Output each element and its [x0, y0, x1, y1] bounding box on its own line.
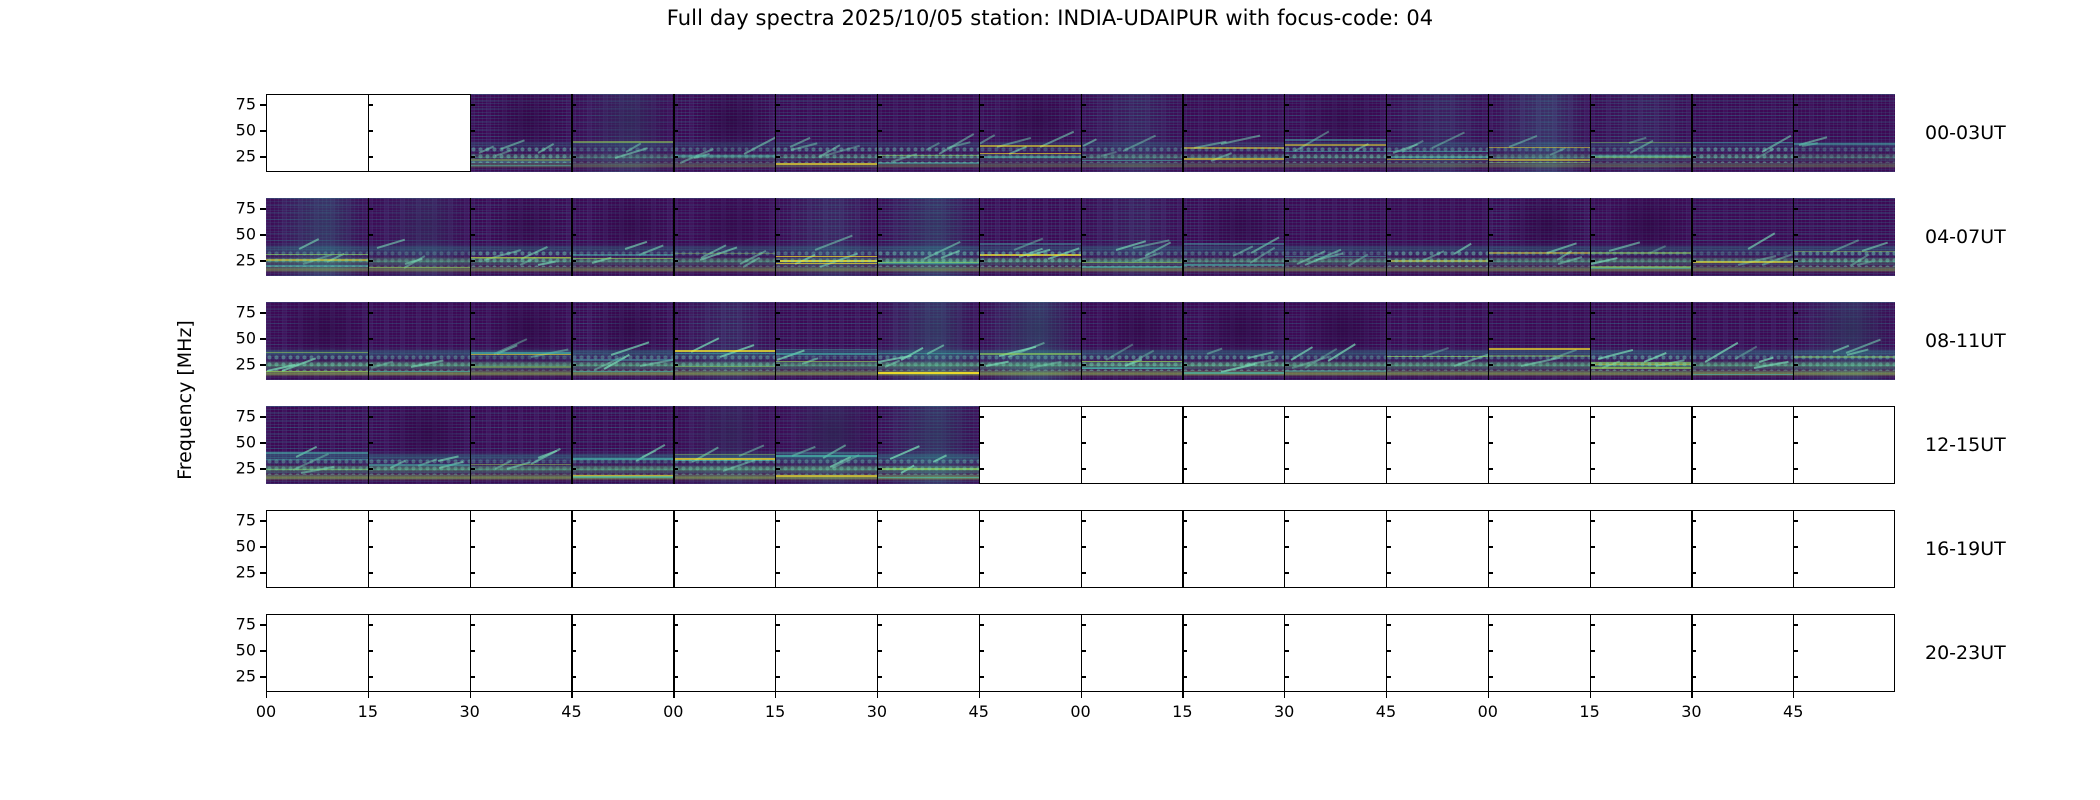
- y-tick-mark: [260, 338, 266, 339]
- spectrogram-texture: [571, 94, 673, 172]
- ionogram-horizontal-band: [1081, 368, 1183, 370]
- y-tick-stub: [1691, 104, 1696, 105]
- spectrogram-panel: [1386, 614, 1488, 692]
- y-tick-stub: [1386, 312, 1391, 313]
- ionogram-horizontal-band: [979, 156, 1081, 158]
- ionogram-horizontal-band: [775, 349, 877, 351]
- spectrogram-texture: [673, 198, 775, 276]
- y-tick-stub: [1488, 260, 1493, 261]
- ionogram-horizontal-band: [1488, 355, 1590, 357]
- spectrogram-texture: [571, 198, 673, 276]
- y-tick-stub: [1691, 650, 1696, 651]
- y-tick-stub: [1284, 234, 1289, 235]
- y-tick-stub: [1793, 520, 1798, 521]
- spectrogram-panel: [571, 510, 673, 588]
- y-tick-stub: [979, 130, 984, 131]
- ionogram-sweep-trace: [1432, 131, 1465, 148]
- peak-dash-strip: [1182, 165, 1284, 172]
- spectrogram-texture: [877, 406, 979, 484]
- y-tick-stub: [1691, 234, 1696, 235]
- spectrogram-echo-bands: [1488, 198, 1590, 276]
- spectrogram-panel: [470, 510, 572, 588]
- figure-title: Full day spectra 2025/10/05 station: IND…: [0, 6, 2100, 30]
- y-tick-stub: [1793, 234, 1798, 235]
- y-tick-stub: [1386, 650, 1391, 651]
- spectrogram-echo-bands: [877, 302, 979, 380]
- y-tick-stub: [979, 624, 984, 625]
- ionogram-horizontal-band: [368, 267, 470, 269]
- spectrogram-panel: [877, 198, 979, 276]
- ionogram-horizontal-band: [1590, 364, 1692, 366]
- ionogram-horizontal-band: [1284, 144, 1386, 146]
- y-tick-stub: [1691, 676, 1696, 677]
- spectrogram-texture: [571, 94, 673, 172]
- ionogram-horizontal-band: [266, 259, 368, 261]
- spectrogram-texture: [266, 406, 368, 484]
- spectrogram-quiet-region: [571, 302, 673, 380]
- spectrogram-texture: [775, 302, 877, 380]
- y-tick-stub: [1182, 624, 1187, 625]
- y-tick-stub: [1386, 260, 1391, 261]
- ionogram-horizontal-band: [1182, 264, 1284, 266]
- y-tick-stub: [1793, 104, 1798, 105]
- y-tick-stub: [673, 208, 678, 209]
- spectrogram-echo-bands: [470, 406, 572, 484]
- y-tick-stub: [1691, 624, 1696, 625]
- spectrogram-texture: [1691, 302, 1793, 380]
- spectrogram-texture: [673, 302, 775, 380]
- x-tick-label: 30: [1274, 702, 1294, 721]
- spectrogram-texture: [1590, 198, 1692, 276]
- y-tick-stub: [673, 546, 678, 547]
- y-tick-stub: [1488, 104, 1493, 105]
- y-tick-stub: [470, 156, 475, 157]
- ionogram-horizontal-band: [979, 153, 1081, 155]
- spectrogram-panel: [673, 614, 775, 692]
- spectrogram-texture: [1386, 198, 1488, 276]
- y-tick-stub: [1386, 234, 1391, 235]
- spectrogram-panel: [1793, 406, 1895, 484]
- y-tick-stub: [1081, 416, 1086, 417]
- y-tick-stub: [1488, 312, 1493, 313]
- spectrogram-texture: [1081, 198, 1183, 276]
- x-tick-label: 15: [1172, 702, 1192, 721]
- y-tick-stub: [775, 364, 780, 365]
- spectrogram-texture: [877, 406, 979, 484]
- y-tick-label: 25: [236, 355, 256, 374]
- y-tick-stub: [1590, 364, 1595, 365]
- x-tick-mark: [673, 692, 674, 698]
- y-tick-label: 75: [236, 407, 256, 426]
- peak-dash-strip: [368, 477, 470, 484]
- y-tick-label: 25: [236, 563, 256, 582]
- spectrogram-texture: [1488, 302, 1590, 380]
- y-tick-stub: [1284, 104, 1289, 105]
- ionogram-horizontal-band: [1081, 262, 1183, 264]
- ionogram-sweep-trace: [1454, 352, 1488, 366]
- spectrogram-texture: [979, 94, 1081, 172]
- spectrogram-texture: [1793, 94, 1895, 172]
- spectrogram-texture: [979, 94, 1081, 172]
- y-tick-stub: [673, 364, 678, 365]
- spectrogram-panel: [673, 94, 775, 172]
- ionogram-sweep-trace: [1761, 135, 1790, 152]
- spectrogram-texture: [368, 302, 470, 380]
- spectrogram-panel: [673, 406, 775, 484]
- spectrogram-panel: [877, 406, 979, 484]
- spectrogram-panel: [1793, 614, 1895, 692]
- y-tick-stub: [1182, 676, 1187, 677]
- y-tick-stub: [571, 442, 576, 443]
- spectrogram-panel: [1182, 510, 1284, 588]
- y-tick-stub: [775, 572, 780, 573]
- y-tick-stub: [1488, 234, 1493, 235]
- y-tick-stub: [1590, 104, 1595, 105]
- spectrogram-panel: [470, 198, 572, 276]
- spectrogram-panel: [1081, 198, 1183, 276]
- peak-dash-strip: [1386, 269, 1488, 276]
- y-tick-stub: [571, 572, 576, 573]
- peak-dash-strip: [368, 373, 470, 380]
- peak-dash-strip: [1590, 269, 1692, 276]
- y-tick-stub: [368, 546, 373, 547]
- y-tick-stub: [1284, 676, 1289, 677]
- y-tick-stub: [775, 676, 780, 677]
- spectrogram-texture: [673, 198, 775, 276]
- y-tick-stub: [1182, 260, 1187, 261]
- y-tick-stub: [1691, 260, 1696, 261]
- ionogram-sweep-trace: [1106, 343, 1134, 360]
- y-tick-stub: [368, 520, 373, 521]
- ionogram-sweep-trace: [641, 450, 655, 458]
- y-tick-stub: [571, 624, 576, 625]
- spectrogram-panel: [266, 94, 368, 172]
- y-tick-stub: [1590, 338, 1595, 339]
- y-tick-stub: [877, 364, 882, 365]
- spectrogram-panel: [1284, 510, 1386, 588]
- spectrogram-panel: [1488, 406, 1590, 484]
- ionogram-horizontal-band: [979, 145, 1081, 147]
- spectrogram-panel: [979, 94, 1081, 172]
- ionogram-horizontal-band: [1386, 156, 1488, 158]
- y-tick-stub: [1081, 676, 1086, 677]
- y-tick-stub: [1691, 208, 1696, 209]
- y-tick-stub: [1182, 130, 1187, 131]
- peak-dash-strip: [1488, 269, 1590, 276]
- spectrogram-panel: [1691, 94, 1793, 172]
- ionogram-horizontal-band: [775, 260, 877, 262]
- y-tick-stub: [1081, 234, 1086, 235]
- spectrogram-texture: [571, 94, 673, 172]
- y-tick-stub: [775, 416, 780, 417]
- y-tick-stub: [470, 650, 475, 651]
- y-tick-stub: [571, 468, 576, 469]
- y-tick-label: 75: [236, 615, 256, 634]
- ionogram-sweep-trace: [1248, 351, 1274, 358]
- y-tick-stub: [1793, 468, 1798, 469]
- spectrogram-texture: [368, 198, 470, 276]
- y-tick-stub: [1081, 650, 1086, 651]
- y-tick-stub: [979, 208, 984, 209]
- y-tick-stub: [470, 260, 475, 261]
- y-tick-stub: [1691, 416, 1696, 417]
- spectrogram-quiet-region: [571, 94, 673, 172]
- y-tick-stub: [368, 104, 373, 105]
- spectrogram-texture: [1488, 198, 1590, 276]
- spectrogram-quiet-region: [673, 94, 775, 172]
- ionogram-horizontal-band: [673, 155, 775, 157]
- spectrogram-panel: [1793, 198, 1895, 276]
- ionogram-horizontal-band: [470, 464, 572, 466]
- spectrogram-echo-bands: [1386, 198, 1488, 276]
- peak-dash-strip: [1691, 165, 1793, 172]
- ionogram-horizontal-band: [673, 454, 775, 456]
- spectrogram-panel: [1284, 94, 1386, 172]
- y-tick-stub: [1488, 130, 1493, 131]
- ionogram-horizontal-band: [571, 258, 673, 260]
- ionogram-horizontal-band: [1284, 256, 1386, 258]
- peak-dash-strip: [775, 477, 877, 484]
- spectrogram-quiet-region: [571, 198, 673, 276]
- spectrogram-echo-bands: [979, 94, 1081, 172]
- spectrogram-texture: [1691, 302, 1793, 380]
- ionogram-sweep-trace: [938, 133, 974, 155]
- y-tick-stub: [775, 156, 780, 157]
- spectrogram-texture: [1691, 94, 1793, 172]
- y-tick-stub: [470, 572, 475, 573]
- ionogram-horizontal-band: [470, 257, 572, 259]
- spectrogram-speckle: [470, 457, 572, 474]
- y-tick-stub: [1284, 650, 1289, 651]
- spectrogram-panel: [1284, 614, 1386, 692]
- y-tick-stub: [979, 468, 984, 469]
- y-tick-stub: [1793, 572, 1798, 573]
- ionogram-sweep-trace: [926, 142, 940, 150]
- spectrogram-texture: [1182, 94, 1284, 172]
- y-tick-stub: [368, 364, 373, 365]
- spectrogram-panel: [1182, 198, 1284, 276]
- y-tick-stub: [877, 260, 882, 261]
- spectrogram-texture: [571, 302, 673, 380]
- spectrogram-texture: [775, 302, 877, 380]
- ionogram-horizontal-band: [1081, 160, 1183, 162]
- spectrogram-panel: [1793, 94, 1895, 172]
- y-tick-stub: [1386, 442, 1391, 443]
- y-tick-stub: [470, 130, 475, 131]
- y-tick-stub: [1081, 624, 1086, 625]
- spectrogram-texture: [1284, 94, 1386, 172]
- ionogram-horizontal-band: [1488, 252, 1590, 254]
- spectrogram-panel: [1081, 94, 1183, 172]
- y-tick-stub: [775, 312, 780, 313]
- spectrogram-texture: [979, 198, 1081, 276]
- spectrogram-texture: [673, 198, 775, 276]
- spectrogram-echo-bands: [571, 406, 673, 484]
- ionogram-horizontal-band: [266, 469, 368, 471]
- spectrogram-texture: [368, 302, 470, 380]
- spectrogram-panel: [1081, 510, 1183, 588]
- spectrogram-texture: [571, 302, 673, 380]
- peak-dash-strip: [979, 373, 1081, 380]
- spectrogram-panel: [979, 302, 1081, 380]
- spectrogram-texture: [877, 406, 979, 484]
- peak-dash-strip: [979, 269, 1081, 276]
- peak-dash-strip: [571, 373, 673, 380]
- spectrogram-texture: [1284, 94, 1386, 172]
- y-tick-stub: [1284, 442, 1289, 443]
- y-tick-stub: [1590, 676, 1595, 677]
- ionogram-sweep-trace: [1609, 242, 1640, 252]
- y-tick-stub: [1590, 520, 1595, 521]
- y-tick-stub: [1488, 676, 1493, 677]
- spectrogram-panel: [266, 302, 368, 380]
- y-tick-stub: [470, 546, 475, 547]
- spectrogram-texture: [1590, 94, 1692, 172]
- spectrogram-texture: [877, 302, 979, 380]
- spectrogram-panel: [266, 510, 368, 588]
- spectrogram-texture: [1793, 198, 1895, 276]
- ionogram-horizontal-band: [979, 254, 1081, 256]
- y-tick-stub: [1793, 260, 1798, 261]
- y-tick-stub: [1081, 104, 1086, 105]
- spectrogram-quiet-region: [1488, 198, 1590, 276]
- spectrogram-panel: [1590, 406, 1692, 484]
- spectrogram-panel: [1284, 198, 1386, 276]
- spectrogram-echo-bands: [775, 406, 877, 484]
- y-tick-stub: [1081, 312, 1086, 313]
- spectrogram-echo-bands: [368, 302, 470, 380]
- spectrogram-texture: [1590, 94, 1692, 172]
- spectrogram-echo-bands: [368, 406, 470, 484]
- y-tick-stub: [775, 546, 780, 547]
- y-tick-stub: [470, 520, 475, 521]
- y-tick-stub: [775, 650, 780, 651]
- spectrogram-texture: [1284, 302, 1386, 380]
- spectrogram-texture: [673, 302, 775, 380]
- ionogram-horizontal-band: [266, 459, 368, 461]
- ionogram-horizontal-band: [1182, 158, 1284, 160]
- spectrogram-panel: [1590, 510, 1692, 588]
- panel-row-00-03ut: 255075: [266, 94, 1895, 172]
- y-tick-stub: [1691, 364, 1696, 365]
- peak-dash-strip: [571, 477, 673, 484]
- spectrogram-texture: [673, 302, 775, 380]
- ionogram-horizontal-band: [1793, 251, 1895, 253]
- ionogram-horizontal-band: [266, 352, 368, 354]
- ionogram-horizontal-band: [368, 464, 470, 466]
- x-tick-mark: [1182, 692, 1183, 698]
- spectrogram-texture: [1386, 198, 1488, 276]
- y-tick-stub: [979, 338, 984, 339]
- spectrogram-bright-region: [673, 302, 775, 380]
- y-tick-stub: [1488, 156, 1493, 157]
- ionogram-horizontal-band: [1284, 151, 1386, 153]
- row-time-label: 00-03UT: [1925, 122, 2006, 144]
- ionogram-sweep-trace: [1007, 343, 1044, 358]
- spectrogram-texture: [368, 302, 470, 380]
- y-tick-stub: [1182, 156, 1187, 157]
- peak-dash-strip: [979, 165, 1081, 172]
- x-tick-mark: [1488, 692, 1489, 698]
- panel-row-20-23ut: 255075: [266, 614, 1895, 692]
- y-tick-stub: [571, 312, 576, 313]
- y-tick-stub: [877, 208, 882, 209]
- peak-dash-strip: [1691, 269, 1793, 276]
- ionogram-horizontal-band: [1284, 370, 1386, 372]
- y-tick-stub: [368, 260, 373, 261]
- y-tick-stub: [775, 130, 780, 131]
- y-tick-label: 50: [236, 225, 256, 244]
- spectrogram-texture: [1590, 198, 1692, 276]
- spectrogram-texture: [1691, 94, 1793, 172]
- y-tick-stub: [1284, 468, 1289, 469]
- y-tick-stub: [571, 208, 576, 209]
- spectrogram-echo-bands: [1793, 94, 1895, 172]
- spectrogram-texture: [1793, 94, 1895, 172]
- spectrogram-panel: [1182, 94, 1284, 172]
- ionogram-sweep-trace: [594, 356, 622, 370]
- y-tick-stub: [571, 130, 576, 131]
- spectrogram-panel: [877, 510, 979, 588]
- ionogram-sweep-trace: [814, 234, 852, 250]
- y-tick-stub: [1590, 442, 1595, 443]
- spectrogram-texture: [1590, 94, 1692, 172]
- y-tick-stub: [673, 650, 678, 651]
- ionogram-sweep-trace: [889, 445, 919, 459]
- y-tick-stub: [1488, 364, 1493, 365]
- spectrogram-panel: [266, 614, 368, 692]
- y-tick-stub: [1284, 130, 1289, 131]
- figure: Full day spectra 2025/10/05 station: IND…: [0, 0, 2100, 800]
- peak-dash-strip: [775, 373, 877, 380]
- ionogram-horizontal-band: [266, 265, 368, 267]
- y-tick-mark: [260, 364, 266, 365]
- y-tick-stub: [673, 624, 678, 625]
- ionogram-sweep-trace: [1029, 361, 1061, 369]
- spectrogram-texture: [877, 302, 979, 380]
- spectrogram-echo-bands: [1284, 198, 1386, 276]
- y-tick-stub: [877, 442, 882, 443]
- peak-dash-strip: [1691, 373, 1793, 380]
- row-time-label: 12-15UT: [1925, 434, 2006, 456]
- ionogram-sweep-trace: [298, 238, 318, 249]
- peak-dash-strip: [571, 165, 673, 172]
- y-tick-stub: [1691, 546, 1696, 547]
- peak-dash-strip: [1488, 165, 1590, 172]
- spectrogram-panel: [673, 510, 775, 588]
- x-tick-mark: [266, 692, 267, 698]
- y-tick-stub: [673, 520, 678, 521]
- spectrogram-panel: [571, 198, 673, 276]
- spectrogram-echo-bands: [571, 94, 673, 172]
- spectrogram-texture: [979, 198, 1081, 276]
- y-tick-stub: [1691, 338, 1696, 339]
- spectrogram-texture: [1386, 302, 1488, 380]
- ionogram-sweep-trace: [1291, 347, 1313, 361]
- ionogram-sweep-trace: [438, 455, 459, 461]
- y-tick-stub: [673, 260, 678, 261]
- y-tick-stub: [368, 572, 373, 573]
- spectrogram-bright-region: [1793, 302, 1895, 380]
- y-tick-stub: [1182, 364, 1187, 365]
- row-time-label: 04-07UT: [1925, 226, 2006, 248]
- ionogram-horizontal-band: [470, 161, 572, 163]
- peak-dash-strip: [673, 269, 775, 276]
- y-tick-label: 75: [236, 511, 256, 530]
- ionogram-horizontal-band: [775, 361, 877, 363]
- spectrogram-texture: [775, 94, 877, 172]
- peak-dash-strip: [877, 165, 979, 172]
